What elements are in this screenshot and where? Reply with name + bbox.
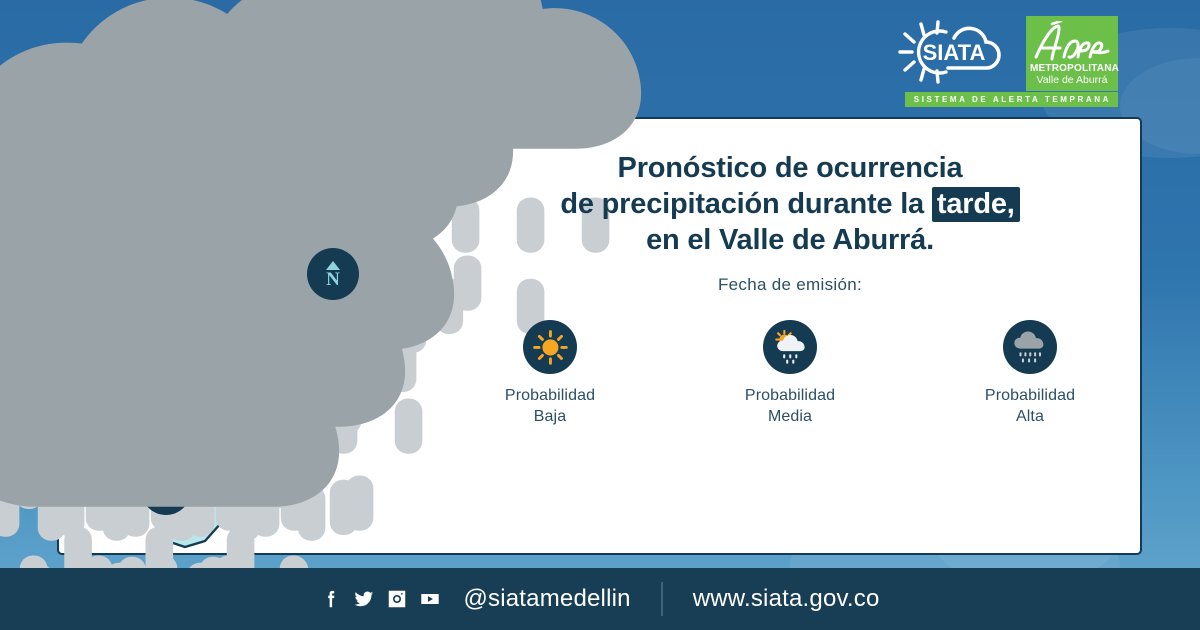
area-metropolitana-logo: METROPOLITANA Valle de Aburrá bbox=[1026, 16, 1118, 91]
legend-item-media: Probabilidad Media bbox=[714, 320, 866, 427]
facebook-icon[interactable] bbox=[320, 588, 342, 610]
headline-line-1: Pronóstico de ocurrencia bbox=[470, 150, 1110, 186]
instagram-icon[interactable] bbox=[386, 588, 408, 610]
area-logo-line1: METROPOLITANA bbox=[1030, 63, 1114, 74]
siata-sun-cloud-icon: SIATA bbox=[888, 16, 1016, 88]
legend-baja-line2: Baja bbox=[534, 408, 566, 425]
legend-item-baja: Probabilidad Baja bbox=[474, 320, 626, 427]
headline-line-3: en el Valle de Aburrá. bbox=[470, 222, 1110, 258]
legend-label-alta: Probabilidad Alta bbox=[954, 385, 1106, 427]
sun-icon bbox=[523, 320, 577, 374]
legend-item-alta: Probabilidad Alta bbox=[954, 320, 1106, 427]
probability-legend: Probabilidad Baja bbox=[470, 320, 1110, 427]
sun-cloud-rain-glyph bbox=[771, 328, 810, 367]
emission-date-label: Fecha de emisión: bbox=[470, 275, 1110, 295]
page-title: Pronóstico de ocurrencia de precipitació… bbox=[470, 150, 1110, 258]
cloud-rain-glyph bbox=[1011, 328, 1050, 367]
headline-line-2-text: de precipitación durante la bbox=[560, 188, 932, 220]
area-script-wordmark bbox=[1030, 21, 1114, 63]
legend-baja-line1: Probabilidad bbox=[505, 387, 595, 404]
forecast-content: Pronóstico de ocurrencia de precipitació… bbox=[470, 150, 1110, 427]
siata-tagline: SISTEMA DE ALERTA TEMPRANA bbox=[905, 92, 1118, 107]
legend-alta-line1: Probabilidad bbox=[985, 387, 1075, 404]
headline-highlight-tarde: tarde, bbox=[932, 187, 1020, 222]
sun-glyph bbox=[531, 328, 570, 367]
legend-alta-line2: Alta bbox=[1016, 408, 1044, 425]
youtube-icon[interactable] bbox=[419, 588, 441, 610]
headline-line-2: de precipitación durante la tarde, bbox=[470, 186, 1110, 222]
area-logo-line2: Valle de Aburrá bbox=[1030, 74, 1114, 86]
social-links bbox=[320, 588, 441, 610]
legend-label-baja: Probabilidad Baja bbox=[474, 385, 626, 427]
area-handwriting-icon bbox=[1030, 21, 1114, 63]
sun-cloud-rain-icon bbox=[763, 320, 817, 374]
brand-logos: SIATA METROPOLITANA Valle de Aburrá bbox=[888, 16, 1118, 91]
twitter-icon[interactable] bbox=[353, 588, 375, 610]
footer-bar: @siatamedellin www.siata.gov.co bbox=[0, 568, 1200, 630]
svg-text:SIATA: SIATA bbox=[923, 40, 986, 65]
social-handle[interactable]: @siatamedellin bbox=[463, 585, 630, 613]
siata-logo: SIATA bbox=[888, 16, 1016, 88]
footer-divider bbox=[661, 582, 663, 616]
cloud-rain-icon bbox=[1003, 320, 1057, 374]
website-url[interactable]: www.siata.gov.co bbox=[693, 585, 880, 613]
legend-media-line2: Media bbox=[768, 408, 812, 425]
legend-media-line1: Probabilidad bbox=[745, 387, 835, 404]
legend-label-media: Probabilidad Media bbox=[714, 385, 866, 427]
